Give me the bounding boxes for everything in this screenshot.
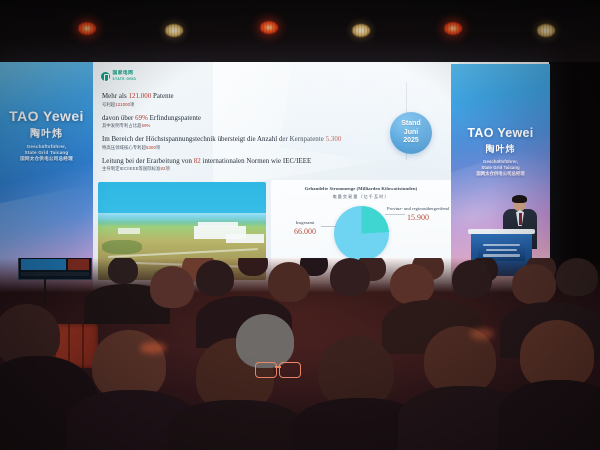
chart-title: Gehandelte Strommenge (Milliarden Kilowa… — [271, 186, 451, 191]
glasses-on-head — [255, 362, 301, 377]
bullet-cn: 号利超121000项 — [102, 102, 402, 108]
bullet-de-highlight: 82 — [194, 158, 201, 165]
photo-building — [198, 222, 238, 227]
bullet-cn: 特高压领域核心专利超5300项 — [102, 145, 402, 151]
speaker-hair — [512, 195, 527, 203]
bullet-item: davon über 69% Erfindungspatente 其中发明专利占… — [102, 115, 402, 130]
ceiling-light-3 — [260, 21, 278, 34]
audience-head — [390, 264, 434, 304]
bullet-list: Mehr als 121.000 Patente 号利超121000项 davo… — [102, 93, 402, 179]
bullet-cn-pre: 号利超 — [102, 102, 115, 107]
ceiling-light-2 — [165, 24, 183, 37]
speaker-role-cn-left: 国网太仓供电公司总经理 — [20, 156, 73, 161]
audience-head — [150, 266, 194, 308]
bullet-item: Im Bereich der Höchstspannungstechnik üb… — [102, 136, 402, 151]
bullet-de-highlight: 5.300 — [326, 136, 342, 143]
bullet-item: Leitung bei der Erarbeitung von 82 inter… — [102, 158, 402, 173]
pie-label-total: Insgesamt 66.000 — [277, 220, 333, 236]
badge-line-3: 2025 — [403, 137, 419, 145]
bullet-cn-post: 项 — [166, 166, 170, 171]
audience-head — [512, 264, 556, 304]
ceiling-light-1 — [78, 22, 96, 35]
logo-text-cn: 国家电网 — [113, 72, 137, 77]
bullet-item: Mehr als 121.000 Patente 号利超121000项 — [102, 93, 402, 108]
audience-head — [108, 258, 138, 284]
photo-building — [226, 234, 264, 243]
badge-line-1: Stand — [401, 120, 420, 128]
pie-chart — [334, 206, 389, 261]
state-grid-logo: 国家电网 STATE GRID — [101, 72, 136, 81]
bullet-cn-highlight: 5300 — [146, 145, 156, 150]
audience-head — [330, 258, 370, 296]
speaker-role-left: Geschäftsführer, State Grid Taicang 国网太仓… — [4, 144, 89, 163]
bullet-de: Leitung bei der Erarbeitung von 82 inter… — [102, 158, 402, 165]
audience-head-gray-hair — [236, 314, 294, 368]
vertical-divider — [406, 82, 407, 160]
bullet-de-pre: Leitung bei der Erarbeitung von — [102, 158, 194, 165]
bullet-de-highlight: 69% — [135, 115, 148, 122]
bullet-cn-post: 项 — [130, 102, 134, 107]
pie-label-total-value: 66.000 — [277, 227, 333, 236]
audience-head — [452, 260, 492, 298]
audience-head — [238, 258, 268, 276]
bullet-cn-highlight: 121000 — [115, 102, 130, 107]
speaker-name-left: TAO Yewei — [0, 108, 93, 124]
hall-ceiling — [0, 0, 600, 62]
speaker-role-de-right: Geschäftsführer, — [483, 159, 518, 164]
bullet-de-post: Patente — [151, 93, 173, 100]
bullet-cn-pre: 主导制定IEC/IEEE等国际标准 — [102, 166, 161, 171]
bullet-de-post: Erfindungspatente — [148, 115, 201, 122]
bullet-de-highlight: 121.000 — [128, 93, 151, 100]
status-badge: Stand Juni 2025 — [390, 112, 432, 154]
ceiling-light-6 — [537, 24, 555, 37]
speaker-tie — [519, 213, 522, 225]
pie-label-total-text: Insgesamt — [277, 220, 333, 226]
control-monitor — [18, 258, 92, 280]
pie-label-cross-value: 15.900 — [387, 213, 449, 222]
speaker-name-right: TAO Yewei — [451, 126, 550, 140]
podium-top-surface — [468, 229, 535, 234]
speaker-name-cn-right: 陶叶炜 — [451, 142, 550, 155]
speaker-role-en-right: State Grid Taicang — [481, 165, 519, 170]
stage-light-glow — [470, 328, 494, 340]
badge-line-2: Juni — [404, 129, 418, 137]
ceiling-light-5 — [444, 22, 462, 35]
speaker-role-en-left: State Grid Taicang — [25, 150, 69, 155]
bullet-de: davon über 69% Erfindungspatente — [102, 115, 402, 122]
audience-head — [556, 258, 598, 296]
tripod-stand — [44, 278, 46, 302]
bullet-cn-post: 项 — [156, 145, 160, 150]
bullet-de-post: internationalen Normen wie IEC/IEEE — [201, 158, 311, 165]
pie-label-cross-regional: Provinz- und regionsübergreifend 15.900 — [387, 206, 449, 222]
bullet-cn-pre: 其中发明专利占比超 — [102, 123, 142, 128]
chart-title-cn: 电量交易量（亿千瓦时） — [271, 194, 451, 200]
bullet-de-pre: davon über — [102, 115, 135, 122]
bullet-de-pre: Im Bereich der Höchstspannungstechnik üb… — [102, 136, 326, 143]
audience-shoulders — [498, 380, 600, 450]
photo-horizon — [98, 213, 266, 223]
stage-light-glow — [140, 342, 166, 354]
audience-shoulders — [168, 400, 306, 450]
conference-photo: TAO Yewei 陶叶炜 Geschäftsführer, State Gri… — [0, 0, 600, 450]
audience-area — [0, 258, 600, 450]
bullet-cn: 其中发明专利占比超69% — [102, 123, 402, 129]
state-grid-mark-icon — [101, 72, 110, 81]
audience-head — [268, 262, 310, 302]
photo-vegetation — [102, 240, 142, 254]
speaker-role-right: Geschäftsführer, State Grid Taicang 国网太仓… — [459, 159, 542, 177]
bullet-de: Mehr als 121.000 Patente — [102, 93, 402, 100]
bullet-cn: 主导制定IEC/IEEE等国际标准82项 — [102, 166, 402, 172]
speaker-role-cn-right: 国网太仓供电公司总经理 — [476, 171, 524, 176]
bullet-de: Im Bereich der Höchstspannungstechnik üb… — [102, 136, 402, 143]
ceiling-light-4 — [352, 24, 370, 37]
bullet-cn-highlight: 69% — [142, 123, 151, 128]
bullet-de-pre: Mehr als — [102, 93, 128, 100]
speaker-name-cn-left: 陶叶炜 — [0, 125, 93, 140]
audience-head — [196, 260, 234, 296]
speaker-role-de-left: Geschäftsführer, — [27, 144, 67, 149]
logo-text-en: STATE GRID — [113, 77, 137, 82]
pie-label-cross-text: Provinz- und regionsübergreifend — [387, 206, 449, 212]
bullet-cn-pre: 特高压领域核心专利超 — [102, 145, 146, 150]
photo-building — [118, 228, 140, 234]
